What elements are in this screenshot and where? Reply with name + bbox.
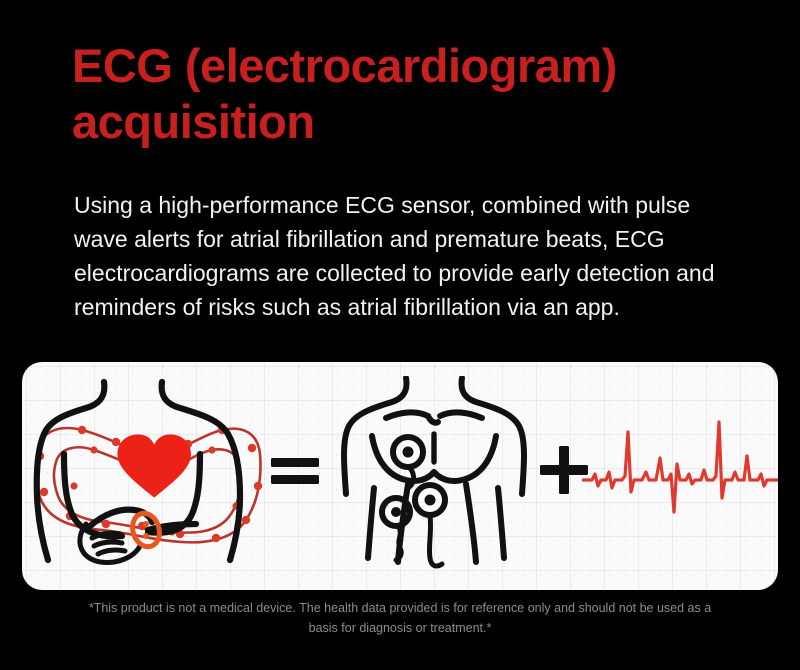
ecg-feature-card: ECG (electrocardiogram) acquisition Usin… — [0, 0, 800, 670]
equals-symbol — [265, 440, 325, 500]
ecg-waveform — [582, 414, 778, 526]
torso-electrodes-figure — [332, 376, 542, 576]
feature-description: Using a high-performance ECG sensor, com… — [74, 188, 726, 324]
heart-circulation-figure — [30, 374, 280, 574]
heart-icon — [117, 434, 191, 497]
page-title: ECG (electrocardiogram) acquisition — [72, 38, 732, 150]
disclaimer-text: *This product is not a medical device. T… — [80, 598, 720, 638]
illustration-panel — [22, 362, 778, 590]
electrode-mid — [415, 485, 445, 566]
